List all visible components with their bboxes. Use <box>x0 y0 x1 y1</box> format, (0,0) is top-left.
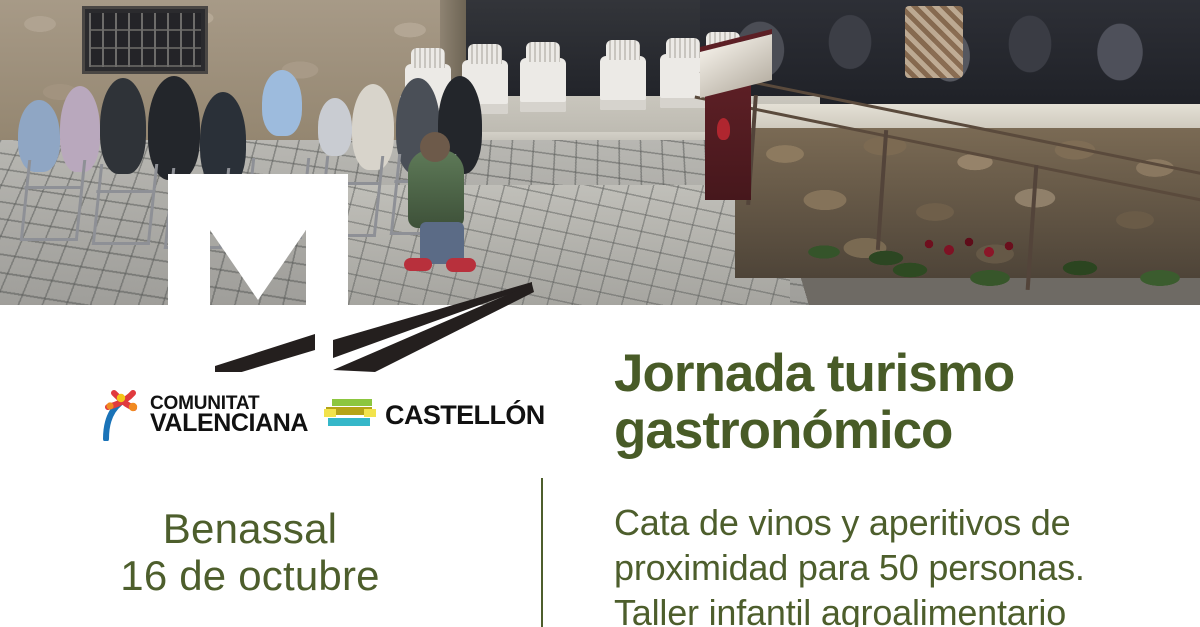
vertical-divider <box>541 478 543 627</box>
institutional-logo-row: COMUNITAT VALENCIANA CASTELLÓN <box>100 387 500 443</box>
cv-line-2: VALENCIANA <box>150 412 308 435</box>
person <box>318 98 352 156</box>
cv-wordmark: COMUNITAT VALENCIANA <box>150 395 308 435</box>
place-location: Benassal <box>0 505 500 552</box>
hero-photo <box>0 0 1200 305</box>
person <box>100 78 146 174</box>
patterned-shirt <box>905 6 963 78</box>
kiosk-emblem <box>717 118 730 140</box>
generalitat-figure-icon <box>100 389 144 441</box>
plastic-chair <box>520 58 566 112</box>
place-date: 16 de octubre <box>0 552 500 599</box>
poster-root: COMUNITAT VALENCIANA CASTELLÓN Benassal … <box>0 0 1200 627</box>
headline-line-2: gastronómico <box>614 402 1184 459</box>
body-line-1: Cata de vinos y aperitivos de <box>614 500 1200 545</box>
castellon-wordmark: CASTELLÓN <box>385 400 545 431</box>
information-kiosk <box>705 85 751 200</box>
person-head <box>420 132 450 162</box>
place-date-block: Benassal 16 de octubre <box>0 505 500 599</box>
page-title: Jornada turismo gastronómico <box>614 345 1184 459</box>
headline-line-1: Jornada turismo <box>614 345 1184 402</box>
shrubbery <box>880 252 1200 298</box>
logo-castellon: CASTELLÓN <box>324 397 545 433</box>
folding-chair <box>92 164 159 245</box>
castellon-bars-icon <box>324 397 376 433</box>
body-line-2: proximidad para 50 personas. <box>614 545 1200 590</box>
arrow-swoosh-icon <box>215 262 535 372</box>
folding-chair <box>20 160 87 241</box>
description-text: Cata de vinos y aperitivos de proximidad… <box>614 500 1200 627</box>
plastic-chair <box>600 56 646 110</box>
person <box>262 70 302 136</box>
logo-comunitat-valenciana: COMUNITAT VALENCIANA <box>100 389 308 441</box>
body-line-3: Taller infantil agroalimentario <box>614 590 1200 627</box>
